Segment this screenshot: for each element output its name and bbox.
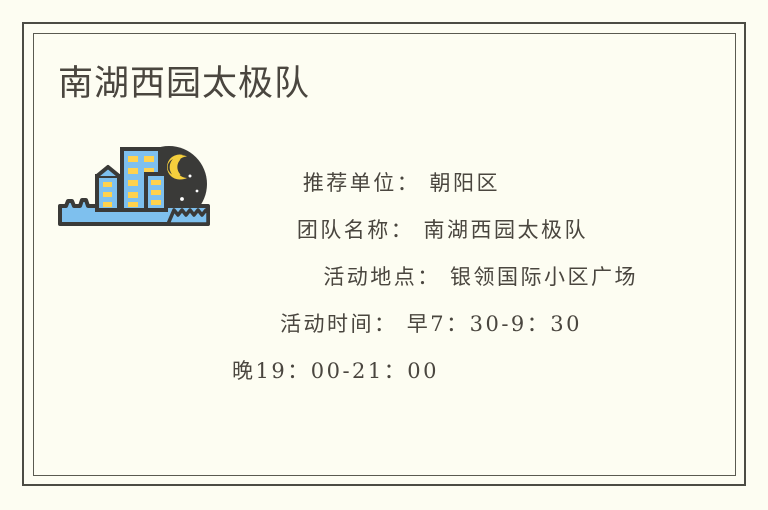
night-city-icon	[56, 144, 216, 228]
info-line-recommending-unit: 推荐单位： 朝阳区	[210, 160, 680, 207]
page-title: 南湖西园太极队	[58, 62, 310, 106]
info-line-activity-location: 活动地点： 银领国际小区广场	[210, 254, 680, 301]
info-block: 推荐单位： 朝阳区 团队名称： 南湖西园太极队 活动地点： 银领国际小区广场 活…	[210, 160, 680, 395]
info-line-activity-time: 活动时间： 早7：30-9：30	[210, 301, 680, 348]
info-line-activity-time-evening: 晚19：00-21：00	[210, 348, 680, 395]
info-line-team-name: 团队名称： 南湖西园太极队	[210, 207, 680, 254]
info-card: 南湖西园太极队	[0, 0, 768, 510]
